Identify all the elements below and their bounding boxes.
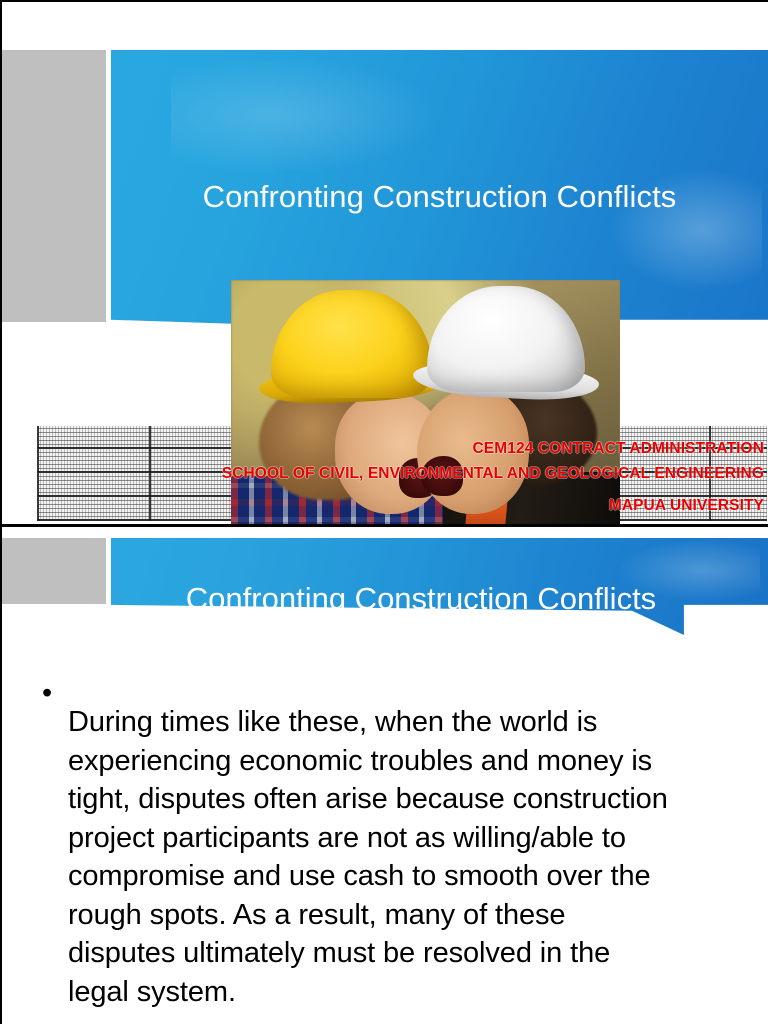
slide-1: Confronting Construction Conflicts CEM12…	[2, 2, 768, 524]
bullet-paragraph-text: During times like these, when the world …	[68, 703, 678, 1011]
cloud-wisp-icon	[171, 60, 431, 170]
slide-2-body: • During times like these, when the worl…	[42, 674, 742, 1024]
slide-deck-page: Confronting Construction Conflicts CEM12…	[0, 0, 768, 1024]
arguing-workers-photo	[231, 280, 620, 524]
slide-1-title: Confronting Construction Conflicts	[111, 178, 768, 216]
slide-2-title: Confronting Construction Conflicts	[111, 580, 731, 618]
bullet-list-item: • During times like these, when the worl…	[42, 674, 742, 1024]
bullet-point-icon: •	[42, 674, 68, 712]
right-worker-face	[417, 388, 529, 514]
slide-1-gray-accent-block	[2, 50, 106, 322]
slide-2-gray-accent-block	[2, 538, 106, 604]
slide-2: Confronting Construction Conflicts • Dur…	[2, 527, 768, 1024]
right-worker-open-mouth	[421, 456, 463, 496]
